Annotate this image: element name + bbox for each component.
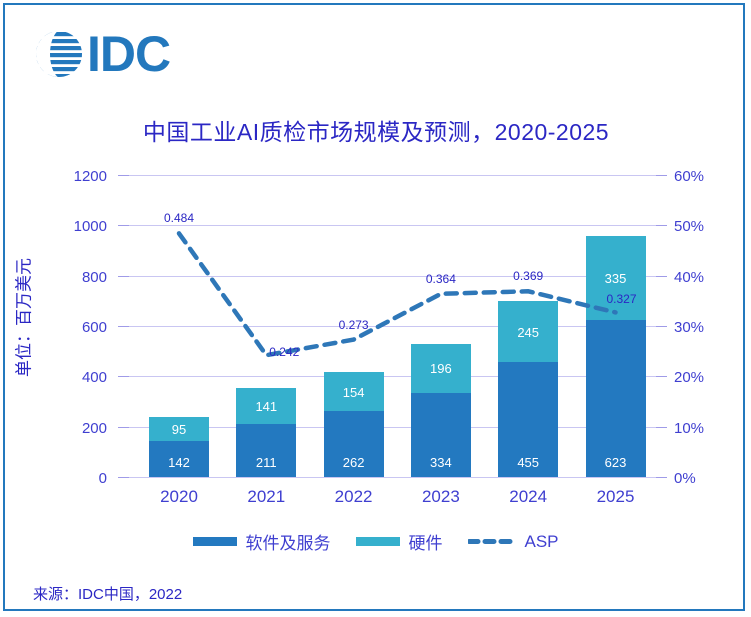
y-tick-label-1000: 1000: [59, 219, 107, 234]
bar-label-software-2023: 334: [411, 455, 471, 470]
left-tick-1200: [118, 175, 129, 176]
asp-label-2025: 0.327: [587, 292, 657, 306]
bar-label-hardware-2024: 245: [498, 325, 558, 340]
y2-tick-label-0: 0%: [674, 471, 724, 486]
gridline-400: [129, 376, 656, 377]
bar-label-software-2025: 623: [586, 455, 646, 470]
bar-label-hardware-2023: 196: [411, 361, 471, 376]
y2-tick-label-40: 40%: [674, 270, 724, 285]
plot-area: 1200 1000 800 600 400 200 0 60% 50% 40% …: [5, 5, 747, 613]
left-tick-0: [118, 477, 129, 478]
x-tick-label-2022: 2022: [311, 487, 397, 507]
y2-tick-label-60: 60%: [674, 169, 724, 184]
y-tick-label-1200: 1200: [59, 169, 107, 184]
chart-frame: IDC 中国工业AI质检市场规模及预测，2020-2025 单位：百万美元 12…: [3, 3, 745, 611]
asp-label-2021: 0.242: [249, 345, 319, 359]
right-tick-50: [656, 225, 667, 226]
y2-tick-label-30: 30%: [674, 320, 724, 335]
right-tick-60: [656, 175, 667, 176]
legend-item-software[interactable]: 软件及服务: [193, 529, 330, 554]
legend-label-hardware: 硬件: [408, 529, 442, 554]
y-tick-label-0: 0: [59, 471, 107, 486]
legend-swatch-hardware: [356, 537, 400, 546]
right-tick-10: [656, 427, 667, 428]
source-note: 来源：IDC中国，2022: [33, 583, 182, 604]
asp-label-2023: 0.364: [406, 272, 476, 286]
bar-label-hardware-2025: 335: [586, 271, 646, 286]
legend-label-asp: ASP: [524, 532, 558, 552]
left-tick-200: [118, 427, 129, 428]
gridline-1200: [129, 175, 656, 176]
y-tick-label-200: 200: [59, 421, 107, 436]
bar-software-2025[interactable]: [586, 320, 646, 477]
right-tick-30: [656, 326, 667, 327]
x-tick-label-2024: 2024: [485, 487, 571, 507]
left-tick-400: [118, 376, 129, 377]
right-tick-40: [656, 276, 667, 277]
y2-tick-label-10: 10%: [674, 421, 724, 436]
x-tick-label-2023: 2023: [398, 487, 484, 507]
bar-label-software-2022: 262: [324, 455, 384, 470]
chart-legend: 软件及服务 硬件 ASP: [5, 529, 747, 554]
y2-tick-label-50: 50%: [674, 219, 724, 234]
y2-tick-label-20: 20%: [674, 370, 724, 385]
left-tick-1000: [118, 225, 129, 226]
legend-swatch-asp: [468, 536, 516, 547]
x-tick-label-2025: 2025: [573, 487, 659, 507]
y-tick-label-600: 600: [59, 320, 107, 335]
asp-label-2022: 0.273: [319, 318, 389, 332]
gridline-0: [129, 477, 656, 478]
legend-swatch-software: [193, 537, 237, 546]
y-tick-label-400: 400: [59, 370, 107, 385]
asp-label-2020: 0.484: [144, 211, 214, 225]
left-tick-600: [118, 326, 129, 327]
gridline-600: [129, 326, 656, 327]
x-tick-label-2020: 2020: [136, 487, 222, 507]
left-tick-800: [118, 276, 129, 277]
asp-label-2024: 0.369: [493, 269, 563, 283]
bar-label-software-2021: 211: [236, 455, 296, 470]
bar-label-software-2020: 142: [149, 455, 209, 470]
x-tick-label-2021: 2021: [223, 487, 309, 507]
legend-label-software: 软件及服务: [245, 529, 330, 554]
right-tick-20: [656, 376, 667, 377]
bar-label-software-2024: 455: [498, 455, 558, 470]
legend-item-asp[interactable]: ASP: [468, 532, 558, 552]
y-tick-label-800: 800: [59, 270, 107, 285]
right-tick-0: [656, 477, 667, 478]
gridline-800: [129, 276, 656, 277]
bar-label-hardware-2021: 141: [236, 399, 296, 414]
legend-item-hardware[interactable]: 硬件: [356, 529, 442, 554]
bar-label-hardware-2020: 95: [149, 422, 209, 437]
bar-label-hardware-2022: 154: [324, 385, 384, 400]
